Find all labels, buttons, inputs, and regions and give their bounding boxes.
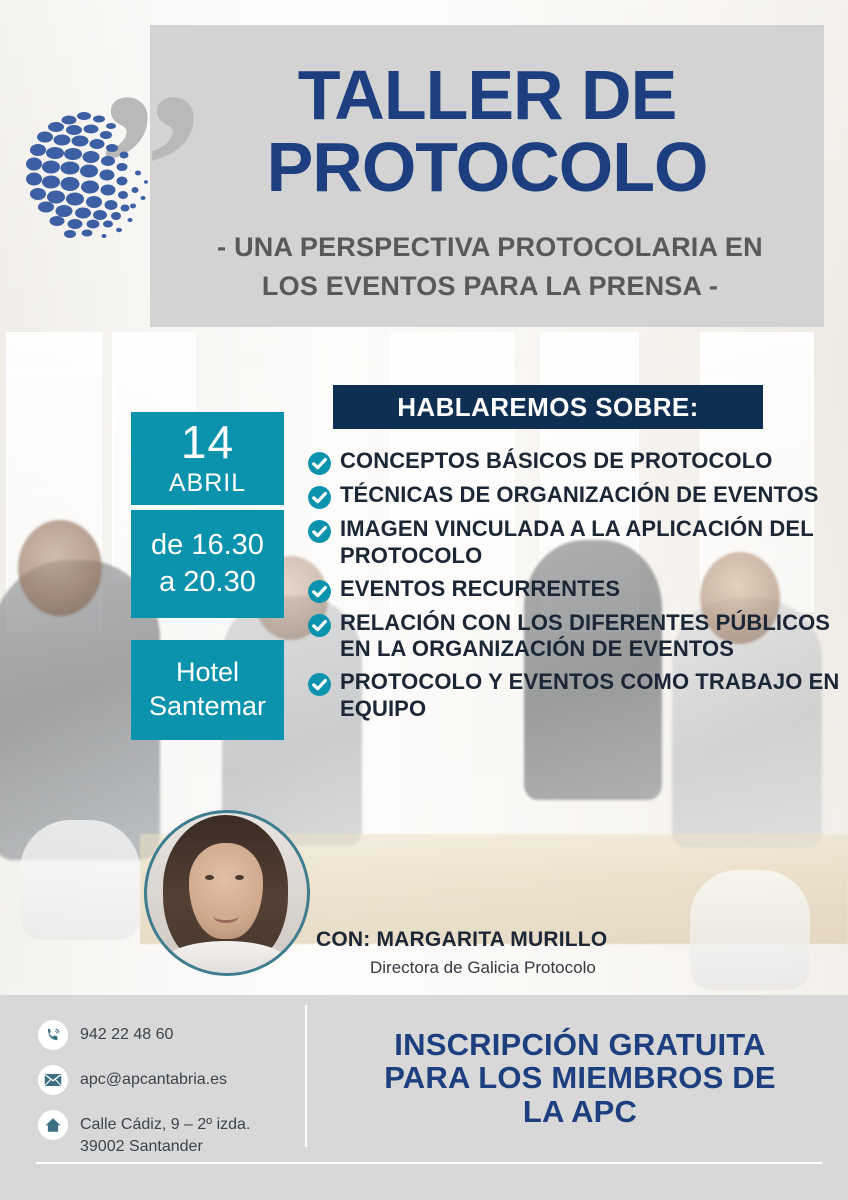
poster-subtitle: - UNA PERSPECTIVA PROTOCOLARIA EN LOS EV… — [180, 228, 800, 306]
speaker-name: CON: MARGARITA MURILLO — [316, 928, 607, 952]
topic-item: CONCEPTOS BÁSICOS DE PROTOCOLO — [307, 448, 842, 476]
portrait-face — [189, 843, 263, 939]
speaker-portrait — [144, 810, 310, 976]
portrait-eye — [235, 875, 244, 880]
globe-dots-logo — [12, 102, 162, 252]
topic-label: RELACIÓN CON LOS DIFERENTES PÚBLICOS EN … — [340, 610, 842, 664]
venue-line-1: Hotel — [176, 656, 239, 690]
topic-item: PROTOCOLO Y EVENTOS COMO TRABAJO EN EQUI… — [307, 669, 842, 723]
topic-item: TÉCNICAS DE ORGANIZACIÓN DE EVENTOS — [307, 482, 842, 510]
venue-box: Hotel Santemar — [131, 640, 284, 740]
envelope-icon — [38, 1065, 68, 1095]
topic-item: EVENTOS RECURRENTES — [307, 576, 842, 604]
email-address: apc@apcantabria.es — [80, 1065, 227, 1091]
time-line-1: de 16.30 — [151, 527, 264, 564]
title-line-1: TALLER DE — [298, 56, 677, 134]
topic-label: CONCEPTOS BÁSICOS DE PROTOCOLO — [340, 448, 772, 475]
topics-list: CONCEPTOS BÁSICOS DE PROTOCOLO TÉCNICAS … — [307, 448, 842, 729]
postal-address: Calle Cádiz, 9 – 2º izda. 39002 Santande… — [80, 1110, 250, 1157]
check-circle-icon — [307, 579, 332, 604]
registration-line-2: PARA LOS MIEMBROS DE — [340, 1061, 820, 1094]
speaker-role: Directora de Galicia Protocolo — [370, 958, 596, 978]
background-chair — [20, 820, 140, 940]
background-person — [18, 520, 102, 616]
subtitle-line-2: LOS EVENTOS PARA LA PRENSA - — [262, 271, 718, 301]
topics-header: HABLAREMOS SOBRE: — [333, 385, 763, 429]
topic-item: RELACIÓN CON LOS DIFERENTES PÚBLICOS EN … — [307, 610, 842, 664]
phone-icon-glyph — [44, 1026, 62, 1044]
event-month: ABRIL — [169, 469, 246, 498]
contact-row-phone[interactable]: 942 22 48 60 — [38, 1020, 288, 1050]
contact-row-address[interactable]: Calle Cádiz, 9 – 2º izda. 39002 Santande… — [38, 1110, 288, 1157]
topic-label: PROTOCOLO Y EVENTOS COMO TRABAJO EN EQUI… — [340, 669, 842, 723]
home-icon — [38, 1110, 68, 1140]
phone-number: 942 22 48 60 — [80, 1020, 173, 1046]
event-day: 14 — [181, 419, 234, 465]
registration-line-1: INSCRIPCIÓN GRATUITA — [340, 1028, 820, 1061]
venue-line-2: Santemar — [149, 690, 266, 724]
poster-title: TALLER DE PROTOCOLO — [150, 60, 824, 202]
registration-notice: INSCRIPCIÓN GRATUITA PARA LOS MIEMBROS D… — [340, 1028, 820, 1128]
address-line-2: 39002 Santander — [80, 1136, 250, 1158]
check-circle-icon — [307, 519, 332, 544]
time-line-2: a 20.30 — [159, 564, 256, 601]
topic-label: TÉCNICAS DE ORGANIZACIÓN DE EVENTOS — [340, 482, 819, 509]
topics-header-label: HABLAREMOS SOBRE: — [397, 392, 698, 423]
portrait-smile — [213, 909, 239, 923]
time-box: de 16.30 a 20.30 — [131, 510, 284, 618]
subtitle-line-1: - UNA PERSPECTIVA PROTOCOLARIA EN — [217, 232, 763, 262]
envelope-icon-glyph — [44, 1073, 62, 1087]
contact-info: 942 22 48 60 apc@apcantabria.es Calle Cá… — [38, 1020, 288, 1172]
portrait-shoulder — [165, 941, 287, 976]
check-circle-icon — [307, 613, 332, 638]
footer-vertical-divider — [305, 1005, 307, 1147]
check-circle-icon — [307, 672, 332, 697]
check-circle-icon — [307, 451, 332, 476]
topic-label: EVENTOS RECURRENTES — [340, 576, 620, 603]
title-line-2: PROTOCOLO — [150, 132, 824, 202]
home-icon-glyph — [44, 1116, 62, 1134]
background-chair — [690, 870, 810, 990]
portrait-eye — [205, 875, 214, 880]
address-line-1: Calle Cádiz, 9 – 2º izda. — [80, 1116, 250, 1133]
registration-line-3: LA APC — [340, 1095, 820, 1128]
check-circle-icon — [307, 485, 332, 510]
topic-label: IMAGEN VINCULADA A LA APLICACIÓN DEL PRO… — [340, 516, 842, 570]
phone-icon — [38, 1020, 68, 1050]
topic-item: IMAGEN VINCULADA A LA APLICACIÓN DEL PRO… — [307, 516, 842, 570]
poster-canvas: ” — [0, 0, 848, 1200]
date-box: 14 ABRIL — [131, 412, 284, 505]
contact-row-email[interactable]: apc@apcantabria.es — [38, 1065, 288, 1095]
